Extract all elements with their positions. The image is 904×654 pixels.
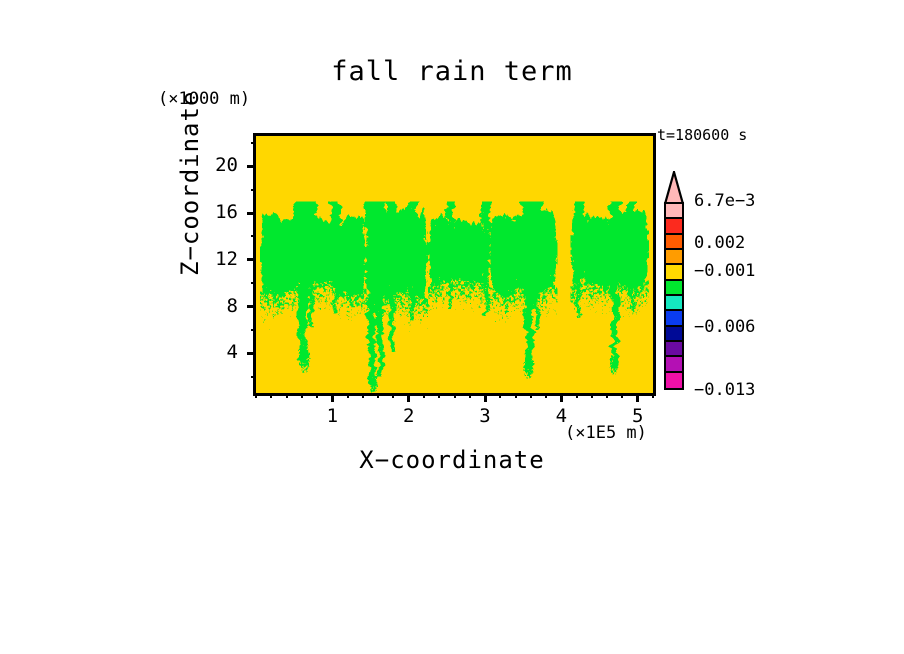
y-tick-minor — [251, 376, 256, 378]
y-tick-label: 4 — [194, 341, 238, 363]
contour-field — [256, 136, 653, 393]
colorbar — [663, 171, 685, 390]
x-tick-minor — [469, 393, 471, 398]
colorbar-tick-label: 6.7e−3 — [694, 191, 755, 211]
x-tick-major — [484, 393, 487, 402]
x-tick-minor — [438, 393, 440, 398]
colorbar-band — [666, 342, 682, 357]
x-tick-minor — [270, 393, 272, 398]
colorbar-band — [666, 204, 682, 219]
x-tick-major — [331, 393, 334, 402]
y-tick-major — [247, 352, 256, 355]
x-tick-label: 2 — [389, 405, 429, 427]
y-tick-major — [247, 212, 256, 215]
figure-canvas: fall rain term (×1000 m) Z−coordinate 12… — [0, 0, 904, 654]
x-tick-minor — [454, 393, 456, 398]
colorbar-tick-label: 0.002 — [694, 233, 745, 253]
colorbar-band — [666, 373, 682, 388]
y-tick-minor — [251, 142, 256, 144]
colorbar-band — [666, 235, 682, 250]
colorbar-band — [666, 357, 682, 372]
colorbar-band — [666, 327, 682, 342]
x-tick-label: 3 — [465, 405, 505, 427]
colorbar-tick-label: −0.006 — [694, 317, 755, 337]
y-tick-major — [247, 305, 256, 308]
colorbar-band — [666, 265, 682, 280]
x-tick-major — [636, 393, 639, 402]
x-tick-minor — [423, 393, 425, 398]
y-tick-label: 12 — [194, 248, 238, 270]
colorbar-tick-label: −0.001 — [694, 261, 755, 281]
x-tick-minor — [347, 393, 349, 398]
z-axis-units-caption: (×1000 m) — [158, 89, 250, 109]
colorbar-band — [666, 219, 682, 234]
y-tick-label: 8 — [194, 295, 238, 317]
x-tick-minor — [621, 393, 623, 398]
y-tick-major — [247, 258, 256, 261]
colorbar-band — [666, 296, 682, 311]
x-tick-label: 1 — [312, 405, 352, 427]
x-tick-minor — [362, 393, 364, 398]
colorbar-band — [666, 281, 682, 296]
x-tick-minor — [255, 393, 257, 398]
x-axis-units-caption: (×1E5 m) — [565, 423, 647, 443]
y-tick-minor — [251, 189, 256, 191]
x-tick-minor — [515, 393, 517, 398]
y-tick-minor — [251, 329, 256, 331]
x-tick-minor — [576, 393, 578, 398]
colorbar-band — [666, 250, 682, 265]
x-tick-minor — [377, 393, 379, 398]
x-tick-minor — [499, 393, 501, 398]
x-tick-minor — [545, 393, 547, 398]
x-tick-major — [407, 393, 410, 402]
plot-area — [253, 133, 656, 396]
x-tick-minor — [652, 393, 654, 398]
x-tick-minor — [301, 393, 303, 398]
colorbar-arrow-icon — [663, 171, 685, 204]
page-title: fall rain term — [0, 56, 904, 87]
x-axis-title: X−coordinate — [0, 446, 904, 474]
colorbar-band — [666, 311, 682, 326]
y-tick-minor — [251, 282, 256, 284]
x-tick-major — [560, 393, 563, 402]
x-tick-minor — [530, 393, 532, 398]
colorbar-band-stack — [664, 202, 684, 390]
y-tick-label: 20 — [194, 154, 238, 176]
x-tick-minor — [606, 393, 608, 398]
x-tick-minor — [316, 393, 318, 398]
y-tick-major — [247, 165, 256, 168]
colorbar-tick-label: −0.013 — [694, 380, 755, 400]
y-tick-label: 16 — [194, 201, 238, 223]
x-tick-minor — [286, 393, 288, 398]
y-tick-minor — [251, 235, 256, 237]
x-tick-minor — [591, 393, 593, 398]
x-tick-minor — [392, 393, 394, 398]
timestamp-label: t=180600 s — [657, 126, 747, 144]
